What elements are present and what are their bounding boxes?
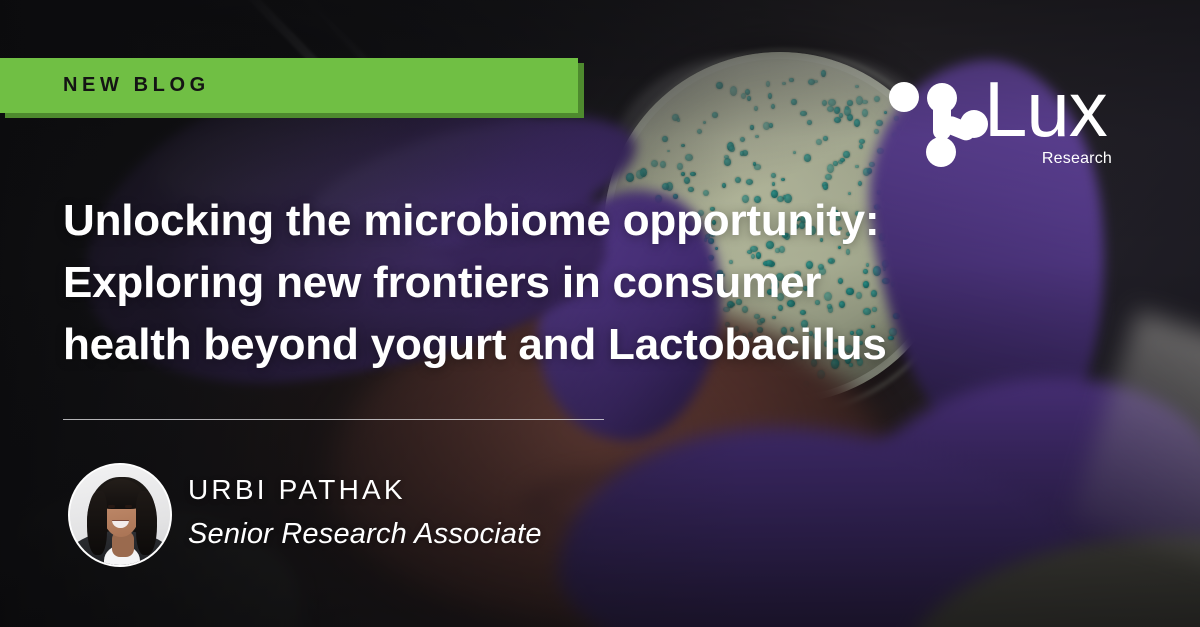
avatar-eye-left xyxy=(108,505,115,508)
avatar-eye-right xyxy=(125,505,132,508)
headline-line-3: health beyond yogurt and Lactobacillus xyxy=(63,314,1143,376)
author-name: URBI PATHAK xyxy=(188,474,406,506)
new-blog-badge: NEW BLOG xyxy=(0,58,578,113)
lux-molecule-nodes-icon xyxy=(888,80,988,172)
lux-wordmark: Lux xyxy=(984,70,1107,148)
avatar xyxy=(68,463,172,567)
blog-promo-card: NEW BLOG Lux Research Unlocking the micr… xyxy=(0,0,1200,627)
lux-research-logo[interactable]: Lux Research xyxy=(888,78,1118,178)
lux-subtitle: Research xyxy=(990,150,1112,168)
page-title: Unlocking the microbiome opportunity: Ex… xyxy=(63,190,1143,376)
new-blog-badge-label: NEW BLOG xyxy=(63,74,210,97)
author-role: Senior Research Associate xyxy=(188,518,542,551)
headline-line-1: Unlocking the microbiome opportunity: xyxy=(63,190,1143,252)
divider xyxy=(63,419,604,420)
avatar-hair-left xyxy=(87,491,107,555)
headline-line-2: Exploring new frontiers in consumer xyxy=(63,252,1143,314)
